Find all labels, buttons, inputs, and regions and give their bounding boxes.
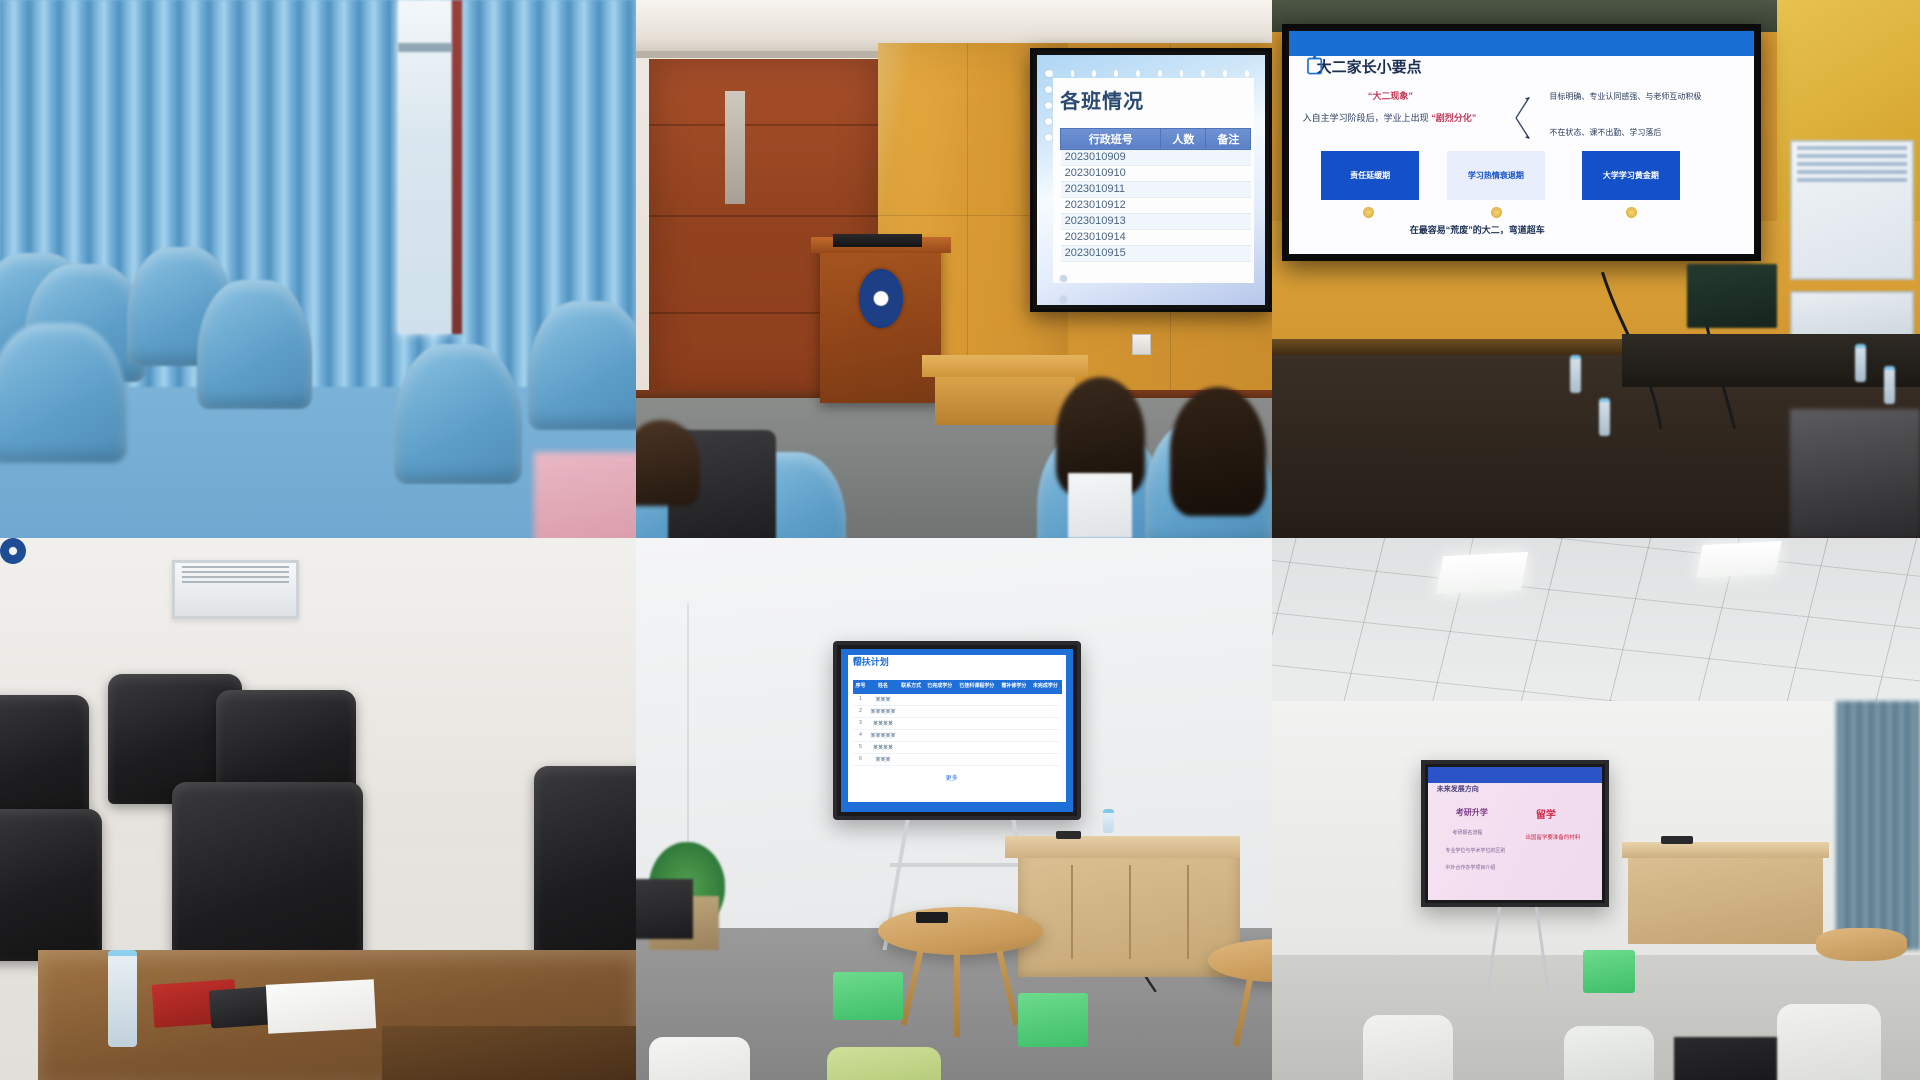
slide-title: 大二家长小要点: [1317, 56, 1422, 77]
slide-support-plan: 帮扶计划 序号 姓名 联系方式 已完成学分 已挂科课程学分 需补修学分 未完成学…: [841, 649, 1073, 812]
table-row: 5某某某某: [853, 741, 1061, 753]
slide-subtitle: “大二现象”: [1368, 89, 1413, 102]
column-header: 行政班号: [1061, 128, 1161, 149]
column-header: 人数: [1161, 128, 1206, 149]
table-row: 2023010910: [1061, 165, 1251, 181]
ceiling-light: [1436, 552, 1529, 594]
display-stand: [1492, 907, 1544, 994]
panel-bottom-left: [0, 538, 636, 1080]
branch-text-down: 不在状态、课不出勤、学习落后: [1549, 127, 1745, 139]
laptop: [1687, 264, 1778, 329]
table-row: 3某某某某: [853, 717, 1061, 729]
slide-footer: 在最容易“荒废”的大二，弯道超车: [1410, 223, 1545, 236]
panel-bottom-middle: 帮扶计划 序号 姓名 联系方式 已完成学分 已挂科课程学分 需补修学分 未完成学…: [636, 538, 1272, 1080]
side-notice-board: [1790, 140, 1913, 280]
roster-table: 行政班号 人数 备注 2023010909 2023010910 2023010…: [1060, 128, 1251, 262]
slide-sophomore-tips: 大二家长小要点 “大二现象” 入自主学习阶段后，学业上出现 “剧烈分化” 目标明…: [1289, 31, 1755, 254]
slide-heading-left: 考研升学: [1456, 807, 1488, 818]
slide-future-direction: 未来发展方向 考研升学 留学 考研报名流程 专业学位与学术学位的区别 中外合作办…: [1428, 767, 1602, 899]
slide-box-1: 责任延缓期: [1321, 151, 1419, 200]
panel-bottom-right: 未来发展方向 考研升学 留学 考研报名流程 专业学位与学术学位的区别 中外合作办…: [1272, 538, 1920, 1080]
medal-icon: [1626, 207, 1637, 218]
slide-title: 未来发展方向: [1437, 784, 1479, 794]
green-stool: [1583, 950, 1635, 993]
bookmark-icon: [1303, 56, 1326, 76]
ceiling-light: [1696, 541, 1781, 578]
slide-right-note: 出国留学要准备的材料: [1525, 833, 1580, 841]
support-plan-table: 序号 姓名 联系方式 已完成学分 已挂科课程学分 需补修学分 未完成学分 1某某…: [853, 680, 1062, 766]
paper-document: [266, 980, 377, 1034]
table-row: 6某某某: [853, 753, 1061, 765]
table-row: 1某某某: [853, 693, 1061, 705]
chair-back: [1777, 1004, 1881, 1080]
slide-line-3: 中外合作办学项目介绍: [1445, 864, 1495, 871]
green-stool: [833, 972, 903, 1021]
school-emblem-icon: [0, 538, 26, 564]
table-row: 2023010914: [1061, 229, 1251, 245]
water-bottle: [108, 950, 137, 1048]
table-row: 2023010913: [1061, 213, 1251, 229]
branch-arrows-icon: [1503, 89, 1559, 147]
table-row: 4某某某某某: [853, 729, 1061, 741]
branch-text-up: 目标明确、专业认同感强、与老师互动积极: [1549, 91, 1745, 103]
photo-collage: 各班情况 行政班号 人数 备注 2023010909 2023010910 20…: [0, 0, 1920, 1080]
chair-back: [649, 1037, 751, 1080]
table-row: 2023010912: [1061, 197, 1251, 213]
panel-top-right: 大二家长小要点 “大二现象” 入自主学习阶段后，学业上出现 “剧烈分化” 目标明…: [1272, 0, 1920, 538]
school-emblem-icon: [859, 269, 904, 328]
slide-box-2: 学习热情衰退期: [1447, 151, 1545, 200]
column-header: 未完成学分: [1030, 680, 1061, 693]
column-header: 需补修学分: [998, 680, 1029, 693]
slide-box-3: 大学学习黄金期: [1582, 151, 1680, 200]
round-table: [878, 907, 1043, 956]
table-row: 2023010909: [1061, 149, 1251, 165]
medal-icon: [1363, 207, 1374, 218]
slide-class-roster: 各班情况 行政班号 人数 备注 2023010909 2023010910 20…: [1037, 55, 1265, 305]
remote-control: [1661, 836, 1693, 844]
column-header: 联系方式: [898, 680, 924, 693]
smartphone: [916, 912, 948, 923]
slide-title: 各班情况: [1060, 85, 1144, 114]
panel-top-left: [0, 0, 636, 538]
wall-ac-unit: [172, 560, 299, 620]
slide-lead-highlight: “剧烈分化”: [1431, 113, 1476, 123]
column-header: 已完成学分: [924, 680, 955, 693]
green-stool: [1018, 993, 1088, 1047]
bookmark-icon: [853, 655, 862, 666]
wooden-cabinet: [1628, 852, 1822, 944]
smart-board-display: 帮扶计划 序号 姓名 联系方式 已完成学分 已挂科课程学分 需补修学分 未完成学…: [833, 641, 1081, 820]
chair-back: [827, 1047, 941, 1080]
round-table: [1816, 928, 1907, 961]
wall-display: 大二家长小要点 “大二现象” 入自主学习阶段后，学业上出现 “剧烈分化” 目标明…: [1282, 24, 1762, 261]
slide-line-1: 考研报名流程: [1452, 829, 1482, 836]
projection-screen: 各班情况 行政班号 人数 备注 2023010909 2023010910 20…: [1030, 48, 1272, 312]
column-header: 已挂科课程学分: [955, 680, 998, 693]
slide-heading-right: 留学: [1536, 806, 1556, 821]
table-row: 2023010911: [1061, 181, 1251, 197]
column-header: 序号: [853, 680, 868, 693]
chair-back: [1564, 1026, 1655, 1080]
medal-icon: [1491, 207, 1502, 218]
slide-lead-text: 入自主学习阶段后，学业上出现: [1303, 113, 1429, 123]
slide-line-2: 专业学位与学术学位的区别: [1445, 847, 1505, 854]
table-row: 2023010915: [1061, 245, 1251, 261]
table-row: 2某某某某某: [853, 705, 1061, 717]
chair-back: [1363, 1015, 1454, 1080]
column-header: 备注: [1206, 128, 1251, 149]
column-header: 姓名: [868, 680, 898, 693]
wooden-shelf: [1018, 847, 1241, 977]
panel-top-middle: 各班情况 行政班号 人数 备注 2023010909 2023010910 20…: [636, 0, 1272, 538]
smartphone: [1056, 831, 1081, 840]
wall-tv-display: 未来发展方向 考研升学 留学 考研报名流程 专业学位与学术学位的区别 中外合作办…: [1421, 760, 1609, 906]
more-label: 更多: [946, 773, 958, 782]
